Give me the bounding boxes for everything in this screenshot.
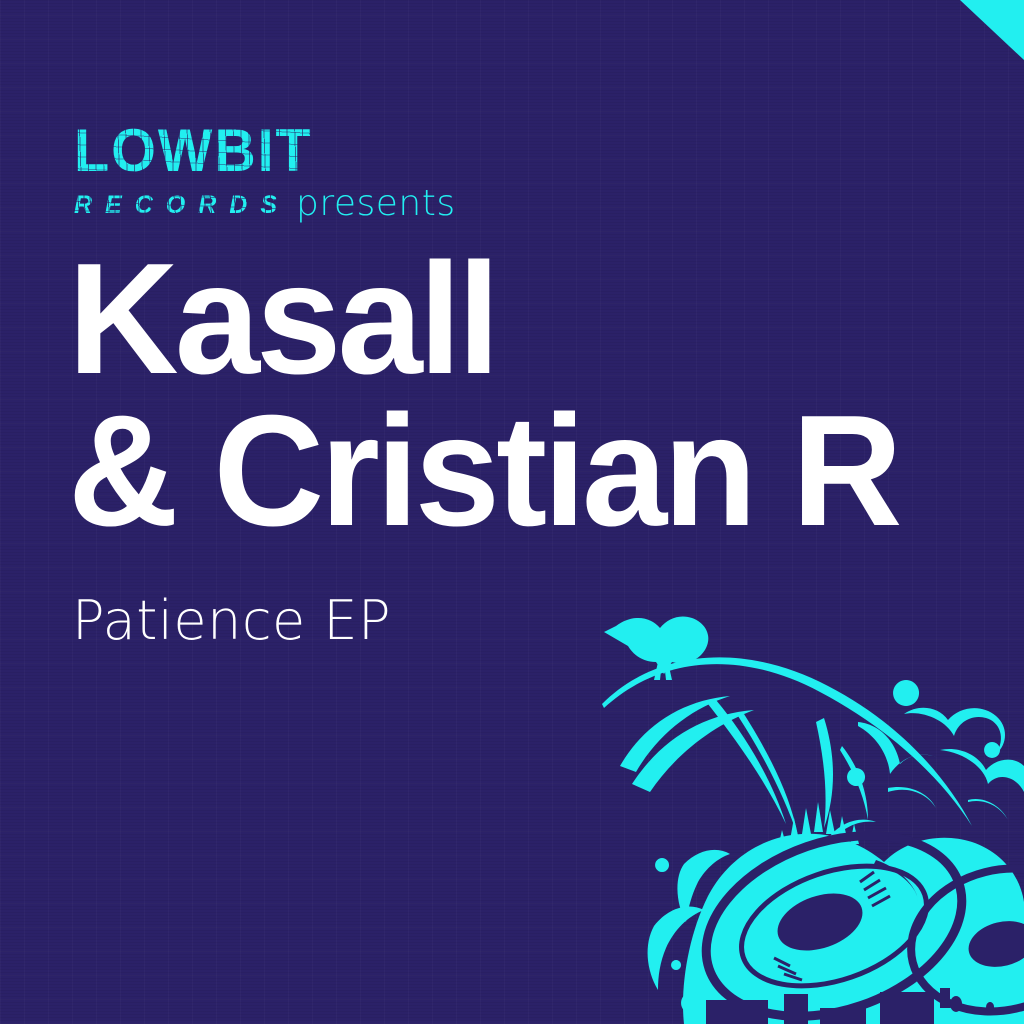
ornamental-artwork xyxy=(588,596,1024,1024)
vine-swirl-icon xyxy=(602,657,972,836)
label-sub-row: RECORDS presents xyxy=(74,184,834,220)
bird-icon xyxy=(604,616,708,680)
artist-name-line-2: & Cristian R xyxy=(68,395,941,547)
corner-fold-triangle-icon xyxy=(960,0,1024,60)
label-name: LOWBIT xyxy=(74,122,804,180)
label-lockup: LOWBIT RECORDS presents xyxy=(74,122,834,220)
artist-name-line-1: Kasall xyxy=(68,243,941,395)
album-cover: LOWBIT RECORDS presents Kasall & Cristia… xyxy=(0,0,1024,1024)
release-title: Patience EP xyxy=(72,592,391,650)
presents-label: presents xyxy=(296,186,456,222)
label-sub-records: RECORDS xyxy=(74,191,290,219)
artist-name-block: Kasall & Cristian R xyxy=(68,243,968,547)
